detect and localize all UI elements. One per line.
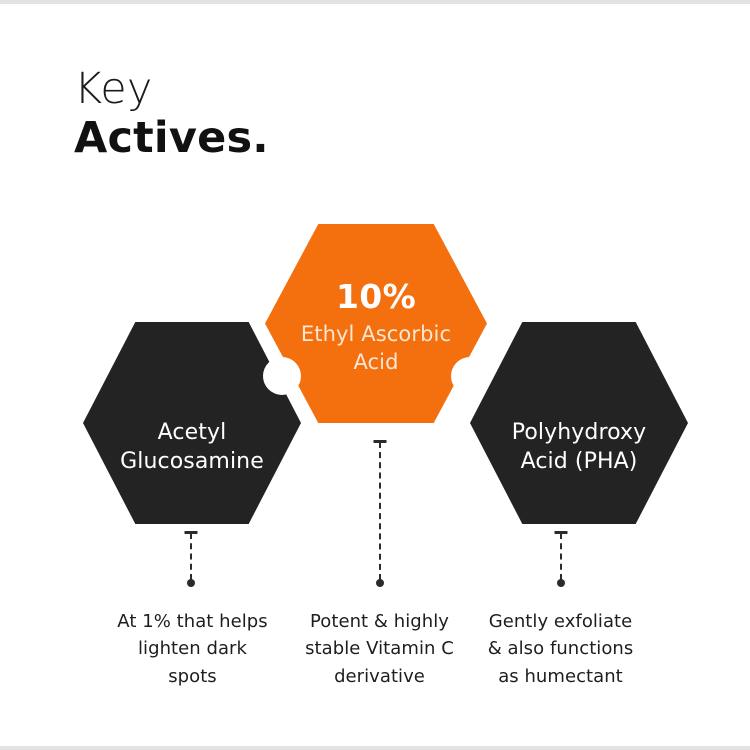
hexagon-joint-circle-right	[451, 357, 489, 395]
hexagon-label-acetyl-glucosamine: Acetyl Glucosamine	[110, 418, 274, 477]
hexagon-label-polyhydroxy-acid: Polyhydroxy Acid (PHA)	[502, 418, 657, 477]
connector-dot-icon	[557, 579, 565, 587]
page-title: Key Actives.	[74, 68, 269, 160]
page-title-line-2: Actives.	[74, 117, 269, 160]
connector-line-right	[554, 531, 568, 587]
connector-dashed-stem	[379, 442, 381, 580]
connector-dot-icon	[376, 579, 384, 587]
connector-dashed-stem	[560, 533, 562, 580]
caption-acetyl-glucosamine: At 1% that helps lighten dark spots	[85, 608, 300, 690]
connector-dashed-stem	[190, 533, 192, 580]
connector-line-left	[184, 531, 198, 587]
page-title-line-1: Key	[74, 68, 269, 111]
top-edge-divider	[0, 0, 750, 4]
connector-dot-icon	[187, 579, 195, 587]
bottom-edge-divider	[0, 746, 750, 750]
hexagon-polyhydroxy-acid[interactable]: Polyhydroxy Acid (PHA)	[470, 322, 688, 524]
hexagon-ethyl-ascorbic-acid[interactable]: 10% Ethyl Ascorbic Acid	[265, 224, 487, 423]
connector-line-center	[373, 440, 387, 587]
caption-polyhydroxy-acid: Gently exfoliate & also functions as hum…	[453, 608, 668, 690]
hexagon-center-stack: 10% Ethyl Ascorbic Acid	[301, 279, 451, 376]
infographic-canvas: Key Actives. Acetyl Glucosamine 10% Ethy…	[0, 0, 750, 750]
hexagon-label-ethyl-ascorbic-acid: Ethyl Ascorbic Acid	[301, 321, 451, 376]
hexagon-value-ethyl-ascorbic-acid: 10%	[336, 279, 416, 315]
hexagon-joint-circle-left	[263, 357, 301, 395]
